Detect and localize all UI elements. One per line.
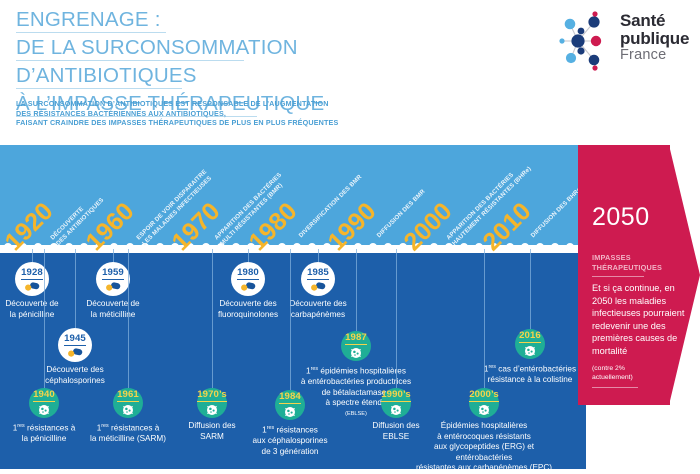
event-marker-carbapenemes-decouverte[interactable]: 1985Découverte descarbapénèmes [270,262,366,320]
bacteria-icon [284,406,296,418]
pill-icon-wrap [105,282,121,291]
bacteria-icon-wrap [122,404,134,416]
timeline-dot [521,243,529,251]
event-badge[interactable]: 1959 [96,262,130,296]
event-stem [212,249,213,388]
event-label: Découverte descarbapénèmes [270,299,366,320]
event-badge[interactable]: 1987 [341,331,371,361]
pill-icon-wrap [240,282,256,291]
timeline-dot [566,243,574,251]
event-badge[interactable]: 1985 [301,262,335,296]
logo-wordmark: Santé publique France [620,12,689,64]
bacteria-icon-wrap [390,404,402,416]
subtitle: LA SURCONSOMMATION D’ANTIBIOTIQUES EST R… [16,99,338,128]
logo-line-1: Santé [620,12,689,30]
event-label-line: Découverte des [24,365,126,376]
bacteria-icon [122,404,134,416]
arrow-footnote-line-2: actuellement) [592,374,633,381]
bacteria-icon [350,347,362,359]
event-year: 2016 [519,331,541,343]
arrow-footnote: (contre 2% actuellement) [592,365,688,388]
timeline-dot [126,243,134,251]
event-marker-meticilline-decouverte[interactable]: 1959Découverte dela méticilline [63,262,163,320]
pill-icon [310,282,326,291]
bacteria-icon-wrap [206,404,218,416]
timeline-dot [65,243,73,251]
arrow-body-text: Et si ça continue, en 2050 les maladies … [592,282,692,358]
arrow-subtitle: IMPASSES THÉRAPEUTIQUES [592,253,662,277]
event-badge[interactable]: 1945 [58,328,92,362]
bacteria-icon-wrap [524,345,536,357]
event-stem [32,249,33,262]
event-marker-meticilline-resistances[interactable]: 19611res résistances àla méticilline (SA… [76,388,180,445]
event-year: 1959 [102,268,124,280]
event-label-line: à entérobactéries productrices [277,377,435,388]
pill-icon-wrap [310,282,326,291]
timeline-dot [445,243,453,251]
pill-icon-wrap [24,282,40,291]
subtitle-line-2: DES RÉSISTANCES BACTÉRIENNES AUX ANTIBIO… [16,109,338,119]
event-badge[interactable]: 1980 [231,262,265,296]
event-label-line: de 3 génération [234,447,346,458]
event-stem [530,249,531,329]
event-label-line: Découverte des [270,299,366,310]
event-stem [248,249,249,262]
pill-icon [67,348,83,357]
event-stem [113,249,114,262]
bacteria-icon [206,404,218,416]
event-year: 1984 [279,392,301,404]
timeline-dot [278,243,286,251]
event-year: 2000’s [469,390,499,402]
event-badge[interactable]: 1984 [275,390,305,420]
title-line-2: DE LA SURCONSOMMATION [16,36,244,61]
timeline-dot [551,243,559,251]
event-stem [290,249,291,390]
event-label-line: la méticilline (SARM) [76,434,180,445]
bacteria-icon-wrap [38,404,50,416]
logo-line-2: publique [620,30,689,48]
timeline-dot [232,243,240,251]
event-year: 1928 [21,268,43,280]
event-label-line: Découverte de [63,299,163,310]
timeline-dot [308,243,316,251]
event-label-line: aux glycopeptides (ERG) et entérobactéri… [406,442,562,463]
bacteria-icon-wrap [350,347,362,359]
arrow-footnote-rule [592,387,638,388]
arrow-subtitle-rule [592,276,644,277]
timeline-dot [475,243,483,251]
event-badge[interactable]: 1970’s [197,388,227,418]
logo-sante-publique-france: Santé publique France [548,10,688,72]
event-stem [396,249,397,388]
event-label-line: aux céphalosporines [234,436,346,447]
timeline-dot [293,243,301,251]
event-year: 1970’s [197,390,227,402]
event-label-line: Épidémies hospitalières [406,421,562,432]
event-label: 1res résistances àla méticilline (SARM) [76,421,180,445]
timeline-dot [34,243,42,251]
timeline-dot [384,243,392,251]
arrow-subtitle-line-1: IMPASSES [592,253,631,262]
timeline-dot [80,243,88,251]
event-badge[interactable]: 2016 [515,329,545,359]
logo-network-icon [548,10,618,72]
event-badge[interactable]: 2000’s [469,388,499,418]
arrow-year: 2050 [592,203,650,232]
event-marker-cephalosporines-decouverte[interactable]: 1945Découverte descéphalosporines [24,328,126,386]
arrow-footnote-line-1: (contre 2% [592,365,625,372]
event-stem [128,249,129,388]
subtitle-line-1: LA SURCONSOMMATION D’ANTIBIOTIQUES EST R… [16,99,338,109]
pill-icon-wrap [67,348,83,357]
timeline-dot [536,243,544,251]
event-year: 1987 [345,333,367,345]
timeline-dot [156,243,164,251]
event-year: 1945 [64,334,86,346]
event-label: 1res résistancesaux céphalosporinesde 3 … [234,423,346,457]
event-label: Découverte descéphalosporines [24,365,126,386]
event-label-line: carbapénèmes [270,310,366,321]
event-badge[interactable]: 1961 [113,388,143,418]
event-label-line: résistantes aux carbapénèmes (EPC) [406,463,562,474]
timeline-dot [460,243,468,251]
event-stem [318,249,319,262]
event-year: 1961 [117,390,139,402]
event-stem [484,249,485,388]
title-line-3: D’ANTIBIOTIQUES [16,64,182,89]
bacteria-icon [524,345,536,357]
infographic-root: ENGRENAGE : DE LA SURCONSOMMATION D’ANTI… [0,0,700,469]
pill-icon [105,282,121,291]
timeline-dot [369,243,377,251]
event-badge[interactable]: 1940 [29,388,59,418]
bacteria-icon [38,404,50,416]
header: ENGRENAGE : DE LA SURCONSOMMATION D’ANTI… [0,0,700,145]
event-marker-erg-epc-epidemies[interactable]: 2000’sÉpidémies hospitalièresà entérocoq… [406,388,562,474]
event-label-line: 1res résistances à [76,421,180,434]
pill-icon [24,282,40,291]
event-label-line: à entérocoques résistants [406,432,562,443]
subtitle-line-3: FAISANT CRAINDRE DES IMPASSES THÉRAPEUTI… [16,118,338,128]
event-year: 1985 [307,268,329,280]
logo-line-3: France [620,47,689,64]
bacteria-icon [390,404,402,416]
bacteria-icon-wrap [284,406,296,418]
event-year: 1980 [237,268,259,280]
arrow-subtitle-line-2: THÉRAPEUTIQUES [592,263,662,272]
title-line-1: ENGRENAGE : [16,8,166,33]
event-stem [356,249,357,331]
event-stem [44,249,45,388]
bacteria-icon [478,404,490,416]
event-label-line: 1res épidémies hospitalières [277,364,435,377]
event-label-line: 1res résistances [234,423,346,436]
pill-icon [240,282,256,291]
event-year: 1940 [33,390,55,402]
event-label-line: céphalosporines [24,376,126,387]
event-label: Épidémies hospitalièresà entérocoques ré… [406,421,562,474]
bacteria-icon-wrap [478,404,490,416]
event-label-line: la méticilline [63,310,163,321]
event-marker-cephalosporines-resistances[interactable]: 19841res résistancesaux céphalosporinesd… [234,390,346,457]
event-label: Découverte dela méticilline [63,299,163,320]
timeline-dot [202,243,210,251]
